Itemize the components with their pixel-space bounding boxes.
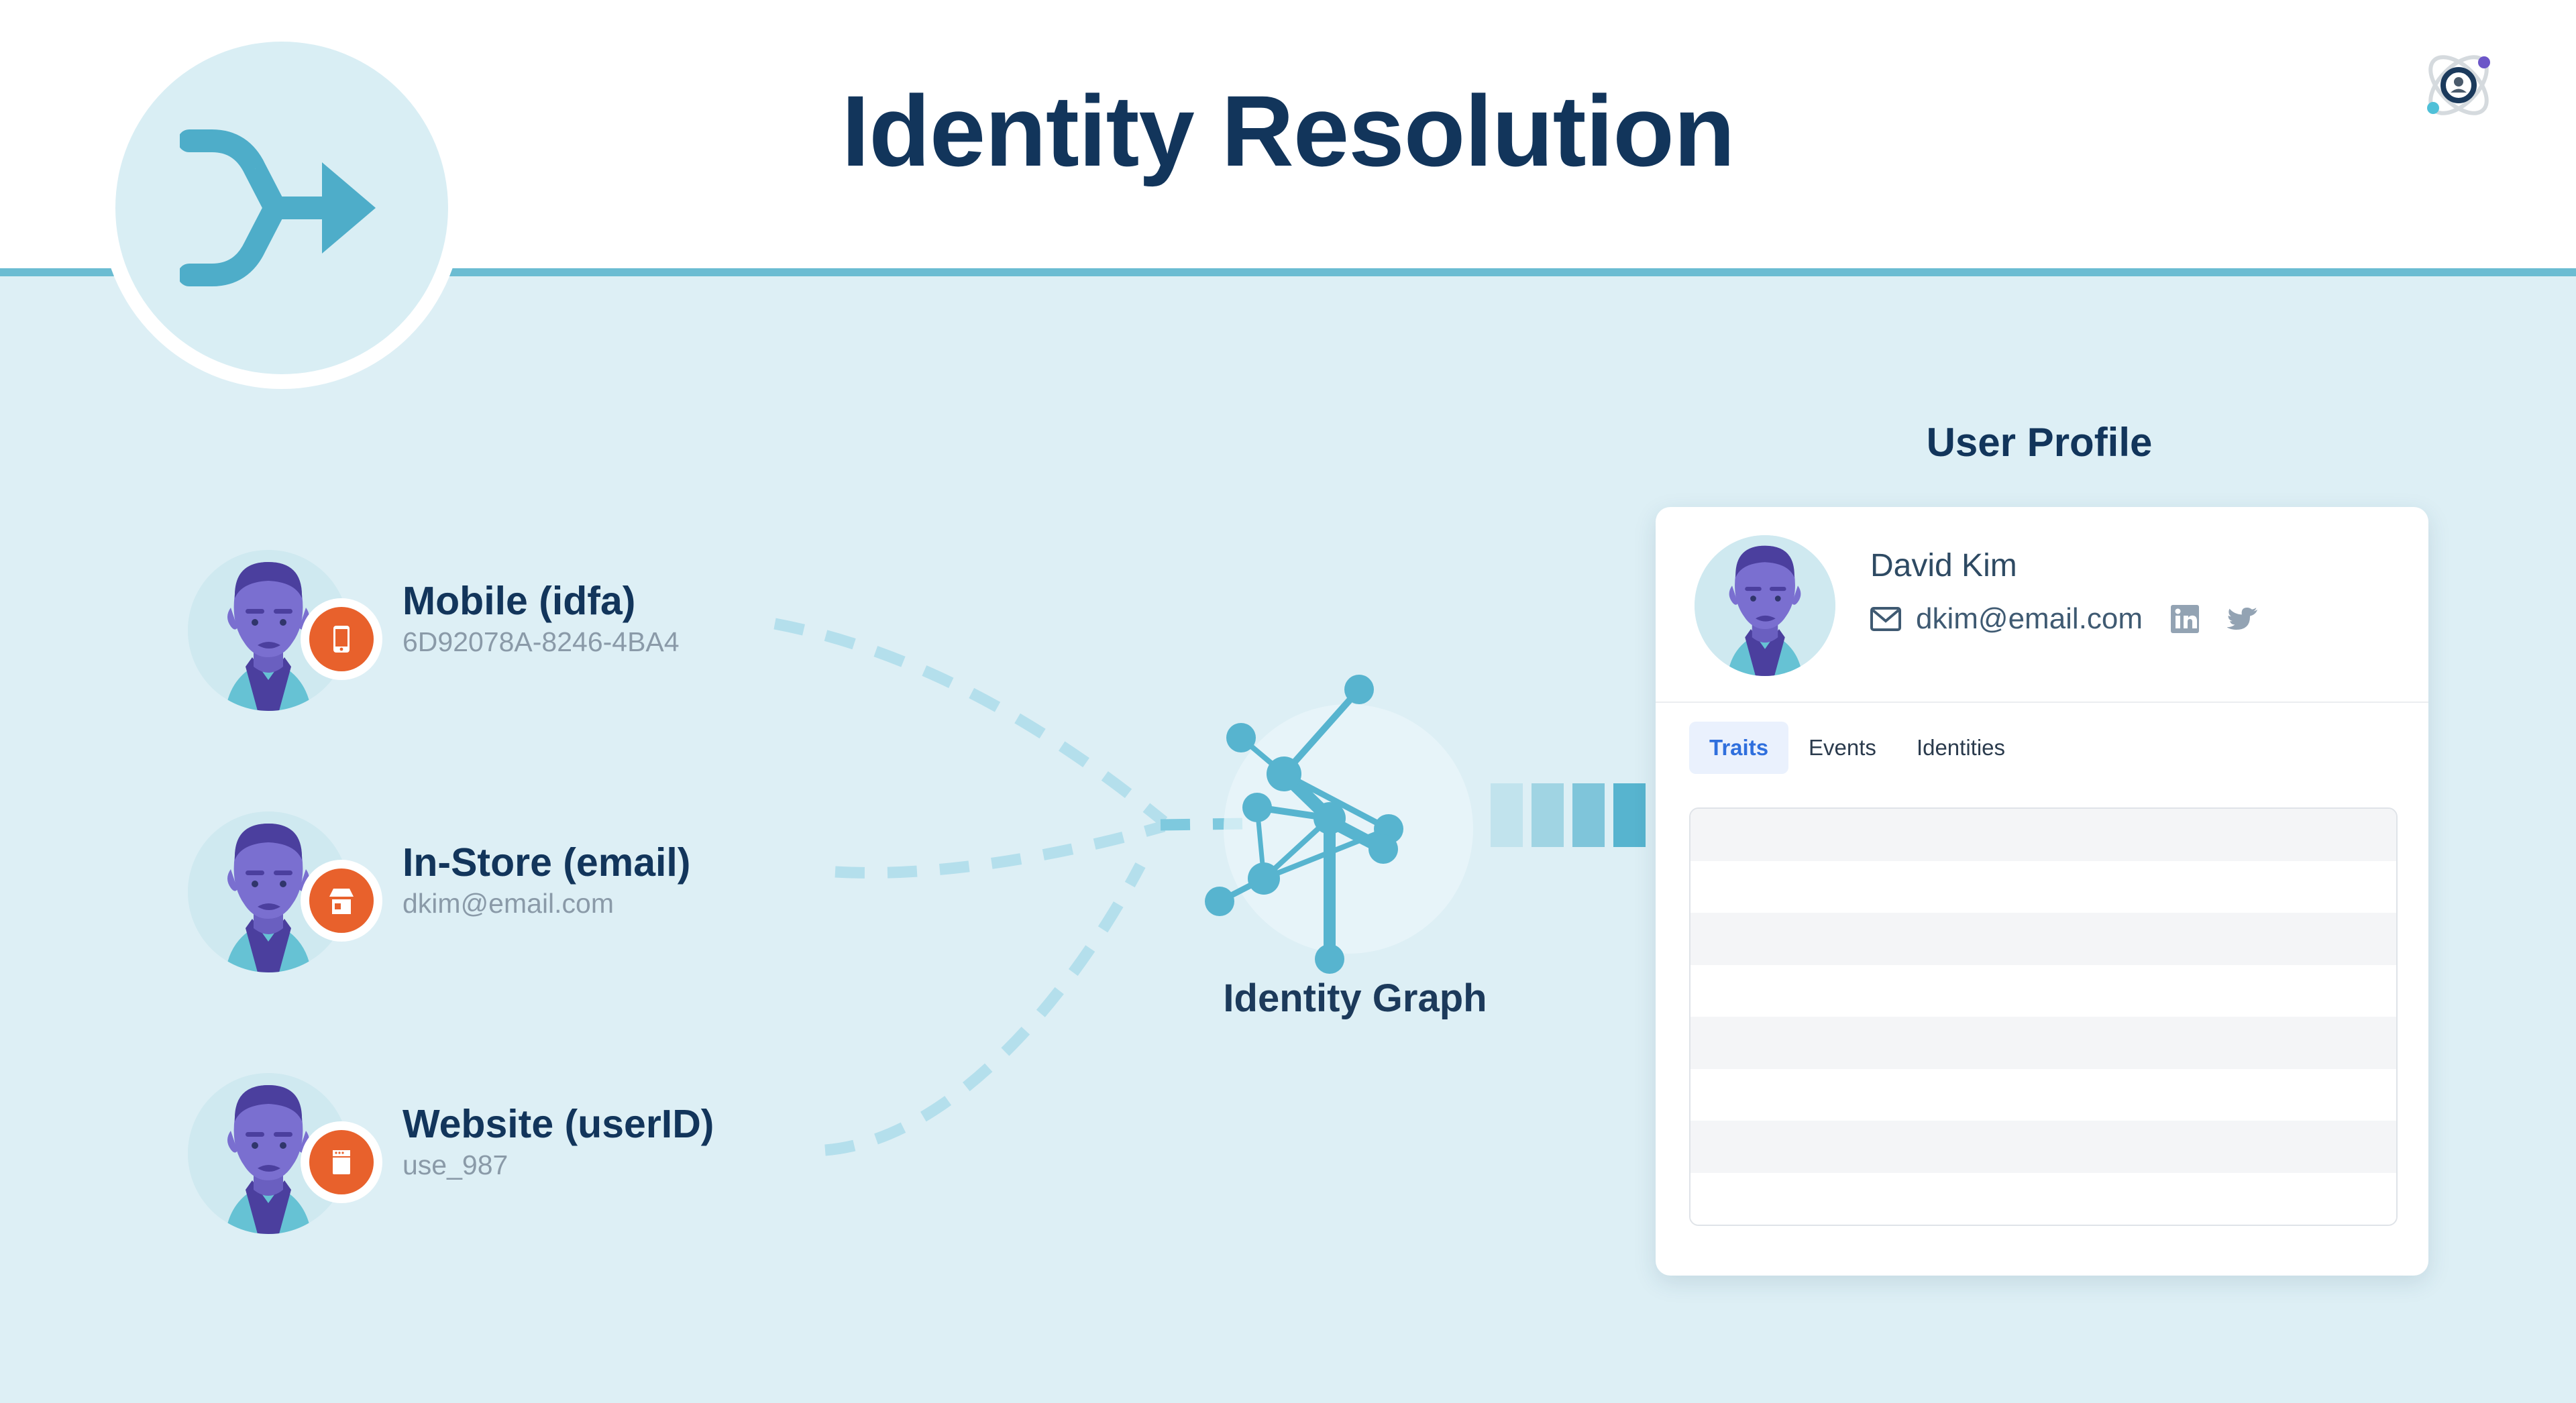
tab-events[interactable]: Events: [1788, 722, 1896, 774]
source-value: dkim@email.com: [402, 889, 690, 918]
source-value: 6D92078A-8246-4BA4: [402, 628, 680, 657]
source-title: In-Store (email): [402, 842, 690, 884]
data-flow-bar: [1613, 783, 1646, 847]
profile-divider: [1656, 701, 2428, 703]
source-title: Website (userID): [402, 1104, 714, 1145]
atom-identity-logo-icon: [2415, 42, 2502, 129]
twitter-icon[interactable]: [2227, 606, 2258, 632]
table-row: [1690, 1173, 2396, 1225]
data-flow-bar: [1572, 783, 1605, 847]
table-row: [1690, 913, 2396, 965]
table-row: [1690, 1121, 2396, 1173]
identity-source-row-mobile[interactable]: Mobile (idfa) 6D92078A-8246-4BA4: [188, 550, 926, 724]
user-profile-card: David Kim dkim@email.com Traits Events I…: [1656, 507, 2428, 1276]
data-flow-bar: [1491, 783, 1523, 847]
source-text: Mobile (idfa) 6D92078A-8246-4BA4: [402, 581, 680, 657]
browser-window-icon: [324, 1145, 359, 1180]
data-flow-bars: [1491, 783, 1646, 847]
source-badge: [301, 1121, 382, 1203]
user-profile-heading: User Profile: [1664, 419, 2415, 465]
tab-traits[interactable]: Traits: [1689, 722, 1788, 774]
table-row: [1690, 1017, 2396, 1069]
table-row: [1690, 861, 2396, 913]
profile-avatar: [1695, 535, 1835, 676]
source-text: Website (userID) use_987: [402, 1104, 714, 1180]
mobile-phone-icon: [324, 622, 359, 657]
table-row: [1690, 965, 2396, 1017]
profile-name: David Kim: [1870, 547, 2017, 584]
identity-graph-label: Identity Graph: [1087, 976, 1623, 1021]
source-badge-disc: [309, 607, 374, 671]
source-badge: [301, 860, 382, 942]
source-title: Mobile (idfa): [402, 581, 680, 622]
page-title: Identity Resolution: [0, 80, 2576, 181]
source-value: use_987: [402, 1151, 714, 1180]
linkedin-icon[interactable]: [2171, 605, 2199, 633]
tab-identities[interactable]: Identities: [1896, 722, 2025, 774]
storefront-icon: [324, 883, 359, 918]
source-badge-disc: [309, 868, 374, 933]
source-badge-disc: [309, 1130, 374, 1194]
identity-source-row-instore[interactable]: In-Store (email) dkim@email.com: [188, 811, 926, 986]
source-badge: [301, 598, 382, 680]
profile-contact-row: dkim@email.com: [1870, 602, 2258, 636]
data-flow-bar: [1532, 783, 1564, 847]
profile-email: dkim@email.com: [1916, 602, 2143, 636]
table-row: [1690, 1069, 2396, 1121]
envelope-icon: [1870, 606, 1901, 632]
table-row: [1690, 809, 2396, 861]
traits-table[interactable]: [1689, 807, 2398, 1226]
profile-tabs: Traits Events Identities: [1689, 722, 2025, 774]
user-avatar-illustration: [1695, 535, 1835, 676]
identity-source-row-website[interactable]: Website (userID) use_987: [188, 1073, 926, 1247]
source-text: In-Store (email) dkim@email.com: [402, 842, 690, 918]
